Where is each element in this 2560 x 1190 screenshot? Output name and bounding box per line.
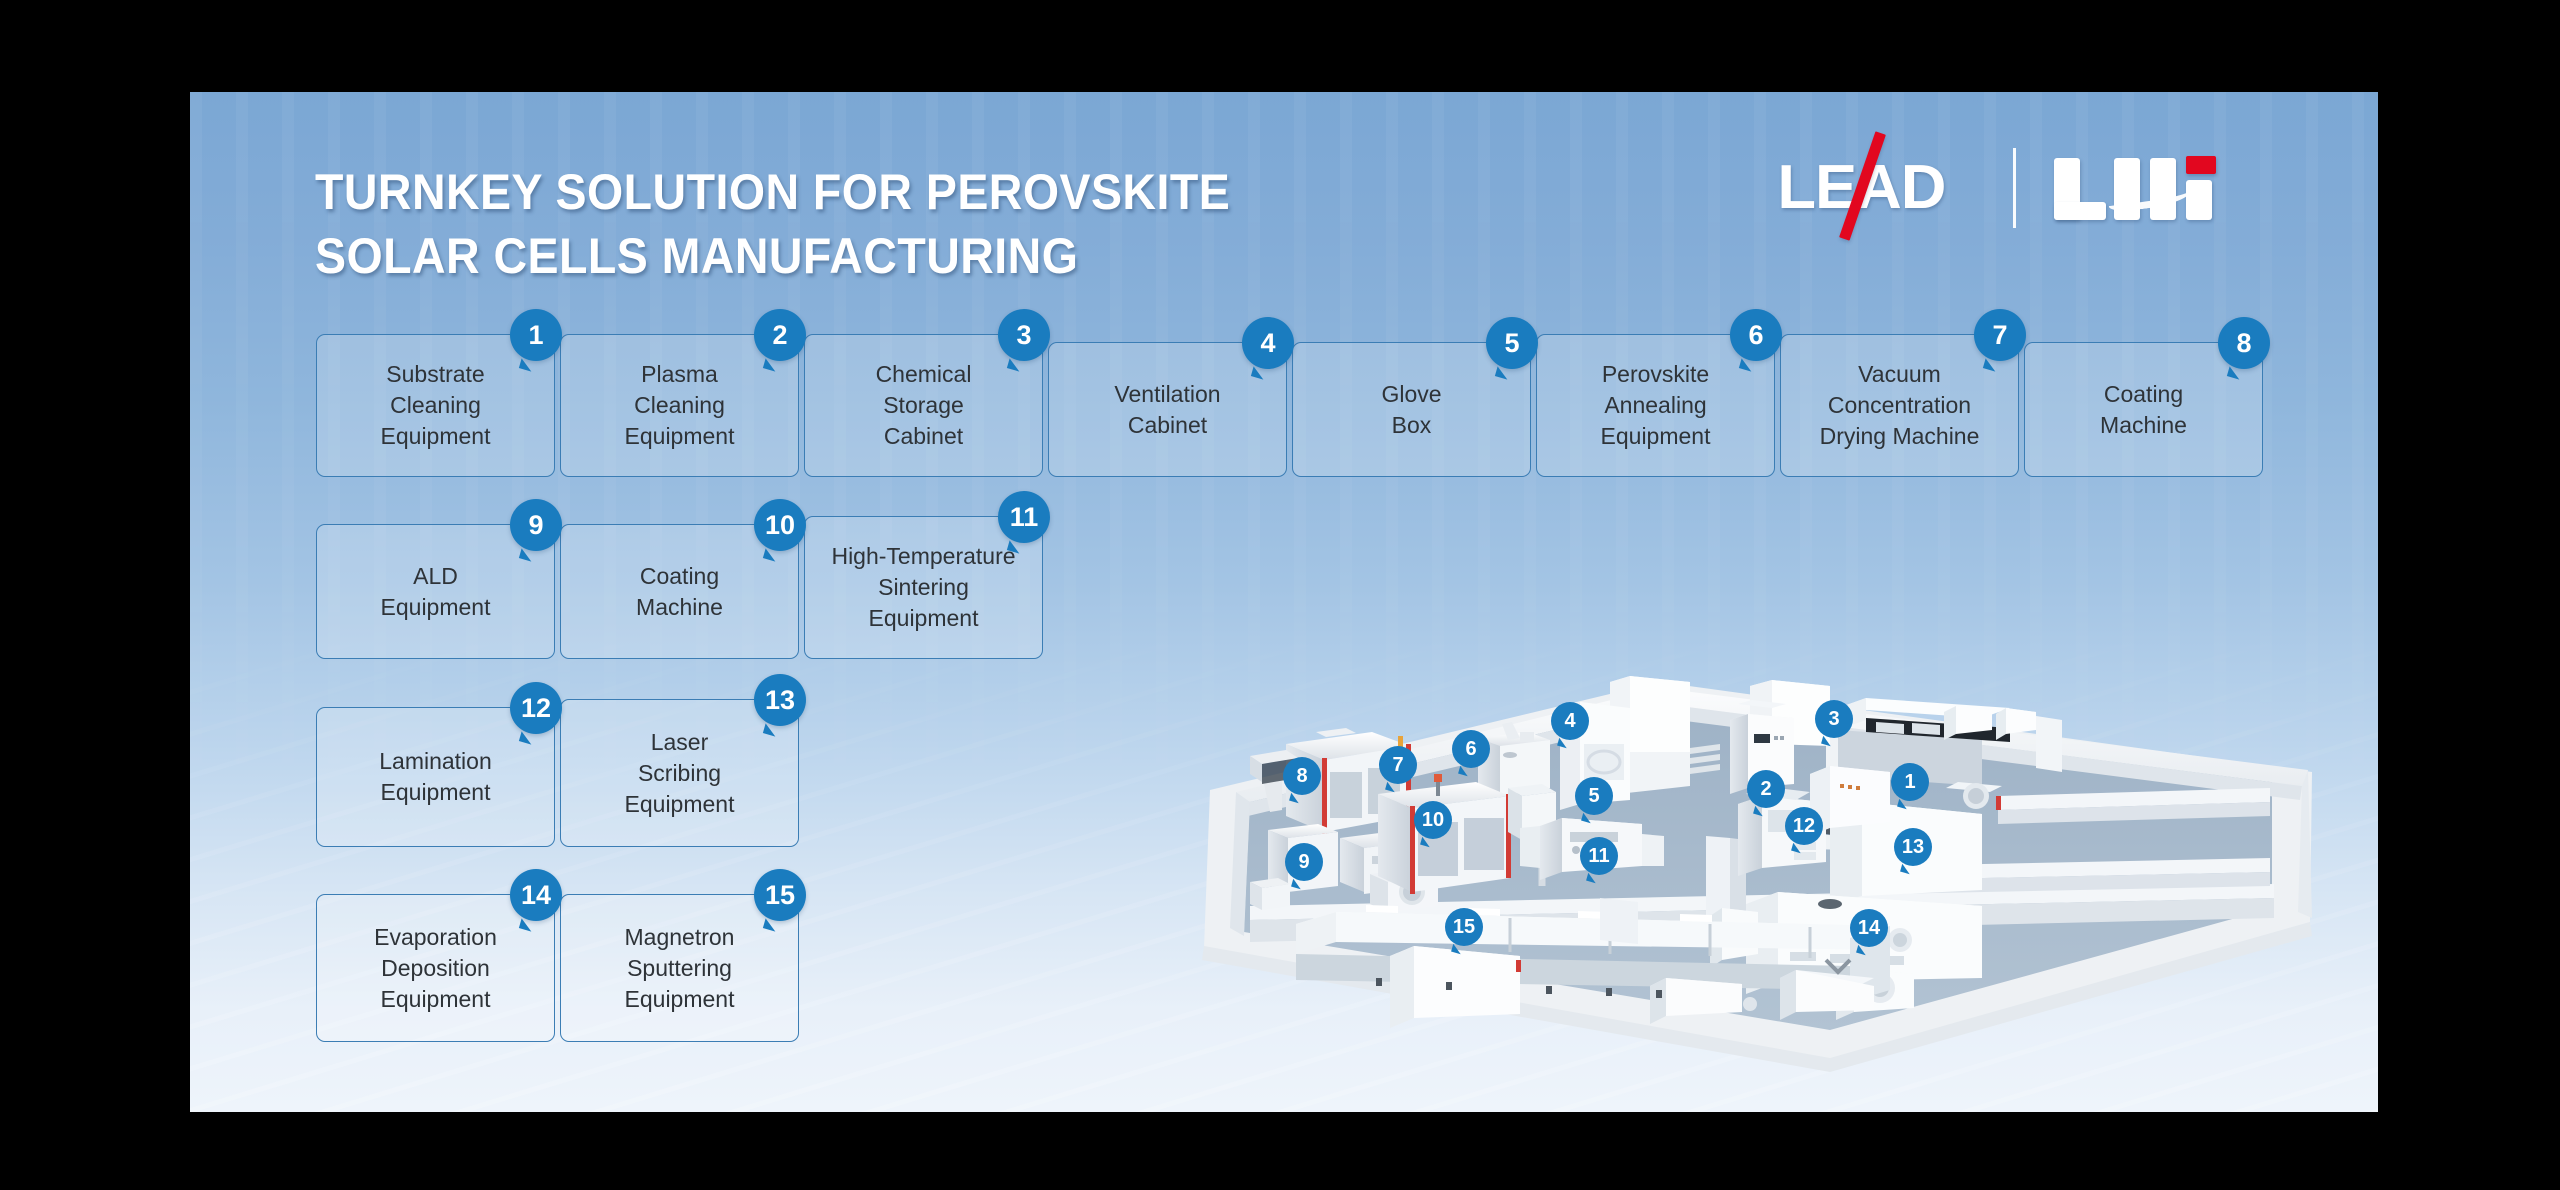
equipment-card-3[interactable]: Chemical Storage Cabinet3 (804, 334, 1043, 477)
lhi-logo-bar-2 (2054, 202, 2106, 220)
equipment-card-number-badge: 6 (1730, 309, 1782, 361)
floorplan-marker-15[interactable]: 15 (1445, 908, 1483, 946)
equipment-card-label: Glove Box (1381, 379, 1441, 441)
floorplan-marker-8[interactable]: 8 (1283, 757, 1321, 795)
wall-column (1600, 898, 1638, 944)
equipment-card-label: Coating Machine (2100, 379, 2187, 441)
equipment-card-number-badge: 8 (2218, 317, 2270, 369)
equipment-card-label: Chemical Storage Cabinet (876, 359, 972, 452)
equipment-card-number-badge: 9 (510, 499, 562, 551)
equipment-card-label: Evaporation Deposition Equipment (374, 922, 497, 1015)
equipment-card-label: Perovskite Annealing Equipment (1601, 359, 1711, 452)
equipment-card-12[interactable]: Lamination Equipment12 (316, 707, 555, 847)
equipment-card-number-badge: 1 (510, 309, 562, 361)
floorplan-marker-12[interactable]: 12 (1785, 807, 1823, 845)
equipment-card-label: ALD Equipment (381, 561, 491, 623)
equipment-card-7[interactable]: Vacuum Concentration Drying Machine7 (1780, 334, 2019, 477)
equipment-card-14[interactable]: Evaporation Deposition Equipment14 (316, 894, 555, 1042)
equipment-card-label: Vacuum Concentration Drying Machine (1820, 359, 1980, 452)
equipment-card-number-badge: 4 (1242, 317, 1294, 369)
lead-logo: LEAD (1779, 152, 1979, 224)
equipment-card-label: Substrate Cleaning Equipment (381, 359, 491, 452)
equipment-card-label: Magnetron Sputtering Equipment (625, 922, 735, 1015)
factory-floorplan-illustration: 123456789101112131415 (1190, 660, 2330, 1080)
floorplan-marker-6[interactable]: 6 (1452, 730, 1490, 768)
equipment-card-10[interactable]: Coating Machine10 (560, 524, 799, 659)
equipment-card-number-badge: 10 (754, 499, 806, 551)
page-title: TURNKEY SOLUTION FOR PEROVSKITE SOLAR CE… (315, 160, 1230, 288)
floorplan-marker-11[interactable]: 11 (1580, 837, 1618, 875)
equipment-card-label: Lamination Equipment (379, 746, 492, 808)
equipment-card-5[interactable]: Glove Box5 (1292, 342, 1531, 477)
equipment-card-number-badge: 14 (510, 869, 562, 921)
equipment-card-15[interactable]: Magnetron Sputtering Equipment15 (560, 894, 799, 1042)
equipment-card-label: Coating Machine (636, 561, 723, 623)
floorplan-marker-3[interactable]: 3 (1815, 700, 1853, 738)
equipment-card-number-badge: 13 (754, 674, 806, 726)
equipment-card-label: Laser Scribing Equipment (625, 727, 735, 820)
equipment-card-2[interactable]: Plasma Cleaning Equipment2 (560, 334, 799, 477)
floorplan-marker-9[interactable]: 9 (1285, 843, 1323, 881)
equipment-card-11[interactable]: High-Temperature Sintering Equipment11 (804, 516, 1043, 659)
equipment-card-number-badge: 5 (1486, 317, 1538, 369)
equipment-card-1[interactable]: Substrate Cleaning Equipment1 (316, 334, 555, 477)
lhi-logo (2050, 150, 2218, 226)
equipment-card-number-badge: 2 (754, 309, 806, 361)
equipment-card-label: Plasma Cleaning Equipment (625, 359, 735, 452)
wall-divider-r3 (1706, 836, 1730, 918)
slide-panel: TURNKEY SOLUTION FOR PEROVSKITE SOLAR CE… (190, 92, 2378, 1112)
equipment-card-4[interactable]: Ventilation Cabinet4 (1048, 342, 1287, 477)
floorplan-marker-1[interactable]: 1 (1891, 763, 1929, 801)
logo-divider (2013, 148, 2016, 228)
lhi-logo-red-accent-icon (2186, 156, 2216, 174)
floorplan-marker-7[interactable]: 7 (1379, 746, 1417, 784)
floorplan-marker-2[interactable]: 2 (1747, 770, 1785, 808)
floorplan-marker-13[interactable]: 13 (1894, 828, 1932, 866)
equipment-card-6[interactable]: Perovskite Annealing Equipment6 (1536, 334, 1775, 477)
screenshot-stage: TURNKEY SOLUTION FOR PEROVSKITE SOLAR CE… (0, 0, 2560, 1190)
floorplan-svg (1190, 660, 2330, 1080)
equipment-card-number-badge: 11 (998, 491, 1050, 543)
equipment-card-number-badge: 3 (998, 309, 1050, 361)
equipment-card-8[interactable]: Coating Machine8 (2024, 342, 2263, 477)
floorplan-marker-5[interactable]: 5 (1575, 777, 1613, 815)
equipment-card-number-badge: 7 (1974, 309, 2026, 361)
equipment-card-label: High-Temperature Sintering Equipment (831, 541, 1015, 634)
equipment-card-number-badge: 15 (754, 869, 806, 921)
floorplan-marker-4[interactable]: 4 (1551, 702, 1589, 740)
floorplan-marker-10[interactable]: 10 (1414, 801, 1452, 839)
equipment-card-9[interactable]: ALD Equipment9 (316, 524, 555, 659)
equipment-card-label: Ventilation Cabinet (1114, 379, 1220, 441)
equipment-card-number-badge: 12 (510, 682, 562, 734)
floorplan-marker-14[interactable]: 14 (1850, 909, 1888, 947)
equipment-card-13[interactable]: Laser Scribing Equipment13 (560, 699, 799, 847)
logo-group: LEAD (1779, 140, 2218, 236)
